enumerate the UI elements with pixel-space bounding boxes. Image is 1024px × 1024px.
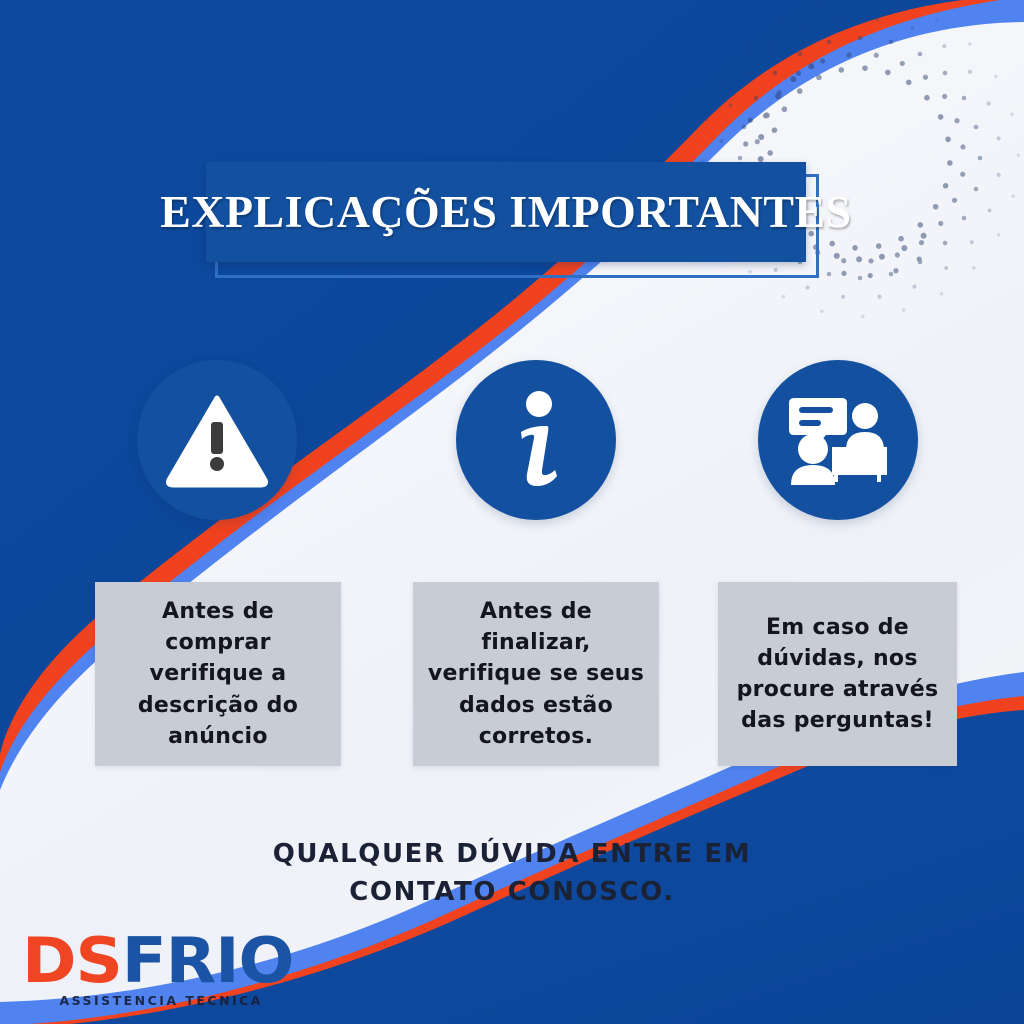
info-cards-row: Antes de comprar verifique a descrição d… — [0, 582, 1024, 766]
brand-logo-tagline: ASSISTENCIA TECNICA — [22, 994, 282, 1008]
title-banner-fill: EXPLICAÇÕES IMPORTANTES — [206, 162, 806, 262]
warning-triangle-icon — [165, 392, 269, 488]
brand-logo: DSFRIO ASSISTENCIA TECNICA — [22, 930, 272, 1014]
support-icon-badge — [758, 360, 918, 520]
page-title: EXPLICAÇÕES IMPORTANTES — [160, 190, 851, 235]
brand-logo-wordmark: DSFRIO — [22, 930, 287, 992]
brand-logo-part-frio: FRIO — [122, 924, 294, 997]
footer-cta: QUALQUER DÚVIDA ENTRE EM CONTATO CONOSCO… — [0, 836, 1024, 911]
info-icon-badge — [456, 360, 616, 520]
warning-icon-badge — [137, 360, 297, 520]
footer-cta-line-2: CONTATO CONOSCO. — [0, 874, 1024, 912]
info-card: Antes de comprar verifique a descrição d… — [95, 582, 341, 766]
info-circle-icon — [501, 388, 571, 492]
info-card: Em caso de dúvidas, nos procure através … — [718, 582, 957, 766]
customer-support-icon — [786, 394, 890, 486]
footer-cta-line-1: QUALQUER DÚVIDA ENTRE EM — [0, 836, 1024, 874]
icon-row — [0, 358, 1024, 526]
info-card-text: Antes de finalizar, verifique se seus da… — [427, 596, 645, 752]
info-card-text: Antes de comprar verifique a descrição d… — [109, 596, 327, 752]
poster-canvas: EXPLICAÇÕES IMPORTANTES — [0, 0, 1024, 1024]
brand-logo-part-ds: DS — [22, 924, 122, 997]
title-banner: EXPLICAÇÕES IMPORTANTES — [206, 162, 820, 280]
info-card: Antes de finalizar, verifique se seus da… — [413, 582, 659, 766]
info-card-text: Em caso de dúvidas, nos procure através … — [732, 612, 943, 737]
